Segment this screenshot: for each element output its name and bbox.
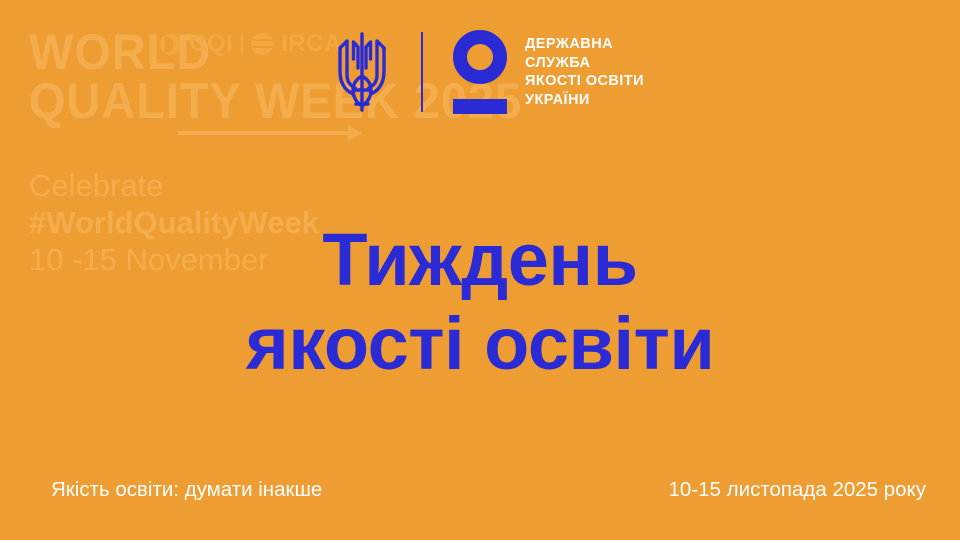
arrow-head <box>348 125 362 141</box>
sqe-bar-shape <box>453 99 507 114</box>
cqi-irca-divider <box>241 33 243 55</box>
globe-icon <box>251 33 273 55</box>
footer-slogan: Якість освіти: думати інакше <box>51 477 322 503</box>
sqe-logo-mark-icon <box>453 30 507 114</box>
org-name-line-1: ДЕРЖАВНА <box>525 36 613 52</box>
headline-line-2: якості освіти <box>0 302 960 386</box>
org-name-line-4: УКРАЇНИ <box>525 92 590 108</box>
lockup-divider <box>421 32 423 112</box>
org-name-line-2: СЛУЖБА <box>525 55 590 71</box>
org-name-line-3: ЯКОСТІ ОСВІТИ <box>525 73 644 89</box>
footer-dates: 10-15 листопада 2025 року <box>669 477 926 503</box>
cqi-label: CQI <box>189 30 233 58</box>
organisation-lockup: ДЕРЖАВНА СЛУЖБА ЯКОСТІ ОСВІТИ УКРАЇНИ <box>331 26 644 118</box>
headline-line-1: Тиждень <box>0 218 960 302</box>
arrow-shaft <box>178 131 350 135</box>
sqe-ring-shape <box>453 30 507 84</box>
cqi-irca-logo-row: CQI IRCA <box>160 30 342 58</box>
watermark-celebrate-text: Celebrate <box>29 166 163 206</box>
organisation-name-block: ДЕРЖАВНА СЛУЖБА ЯКОСТІ ОСВІТИ УКРАЇНИ <box>525 35 644 109</box>
ukraine-tryzub-icon <box>331 28 393 116</box>
cqi-badge-icon <box>160 34 181 55</box>
arrow-right-icon <box>178 125 362 141</box>
poster-canvas: WORLD QUALITY WEEK 2025 CQI IRCA Celebra… <box>0 0 960 540</box>
main-headline: Тиждень якості освіти <box>0 218 960 386</box>
